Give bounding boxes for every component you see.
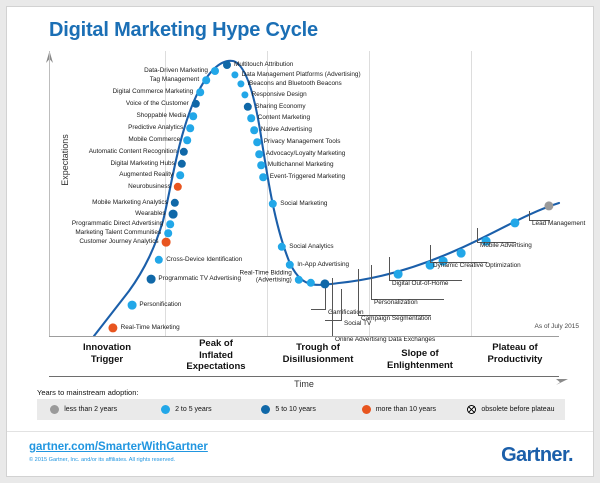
data-point[interactable] [223, 61, 231, 69]
as-of-date: As of July 2015 [535, 323, 579, 330]
legend-item[interactable]: less than 2 years [50, 405, 117, 414]
data-point-label: Augmented Reality [119, 171, 173, 179]
phase-plateau-of-productivity: Plateau of Productivity [471, 342, 559, 365]
data-point-label: Sharing Economy [255, 103, 305, 111]
data-point-label: Cross-Device Identification [166, 256, 242, 264]
data-point-label: Tag Management [150, 76, 199, 84]
data-point[interactable] [162, 238, 171, 247]
data-point-label: Multitouch Attribution [234, 61, 293, 69]
data-point-label: Predictive Analytics [128, 124, 183, 132]
data-point-label: Neurobusiness [128, 183, 171, 191]
legend-swatch-icon [362, 405, 371, 414]
hype-cycle-plot: Multitouch AttributionData-Driven Market… [49, 51, 559, 336]
data-point-label: Multichannel Marketing [268, 161, 334, 169]
data-point[interactable] [247, 114, 255, 122]
phase-innovation-trigger: Innovation Trigger [49, 342, 165, 365]
copyright-text: © 2015 Gartner, Inc. and/or its affiliat… [29, 457, 175, 463]
data-point-label: Digital Out-of-Home [392, 280, 448, 288]
data-point[interactable] [257, 161, 265, 169]
data-point-label: Real-Time Bidding(Advertising) [239, 270, 291, 285]
data-point-label: Social Analytics [289, 243, 333, 251]
data-point-label: Mobile Advertising [480, 242, 532, 250]
data-point[interactable] [183, 136, 191, 144]
data-point-label: Dynamic Creative Optimization [433, 262, 521, 270]
data-point[interactable] [259, 173, 267, 181]
leader-line [430, 245, 487, 263]
legend-swatch-icon [50, 405, 59, 414]
legend-swatch-icon [261, 405, 270, 414]
data-point[interactable] [147, 275, 156, 284]
data-point[interactable] [164, 229, 172, 237]
leader-line [311, 287, 326, 310]
data-point-label: Automatic Content Recognition [89, 148, 177, 156]
legend-item[interactable]: obsolete before plateau [467, 405, 554, 414]
legend-swatch-icon [161, 405, 170, 414]
data-point-label: Marketing Talent Communities [75, 229, 161, 237]
data-point-label: Real-Time Marketing [121, 324, 180, 332]
data-point-label: Campaign Segmentation [361, 315, 431, 323]
data-point-label: Programmatic TV Advertising [158, 275, 241, 283]
obsolete-before-plateau-icon [467, 405, 476, 414]
phase-trough-of-disillusionment: Trough of Disillusionment [267, 342, 369, 365]
data-point[interactable] [176, 171, 184, 179]
data-point-label: Responsive Design [252, 91, 307, 99]
legend-item-label: less than 2 years [64, 406, 117, 413]
data-point-label: Lead Management [532, 220, 585, 228]
data-point-label: Data Management Platforms (Advertising) [242, 71, 361, 79]
legend-item-label: 5 to 10 years [275, 406, 315, 413]
legend-item[interactable]: 5 to 10 years [261, 405, 315, 414]
data-point-label: Voice of the Customer [126, 100, 189, 108]
leader-line [477, 228, 516, 243]
data-point-label: Native Advertising [261, 126, 312, 134]
data-point-label: In-App Advertising [297, 261, 349, 269]
legend-item-label: more than 10 years [376, 406, 436, 413]
legend-item[interactable]: more than 10 years [362, 405, 436, 414]
data-point-label: Data-Driven Marketing [144, 67, 208, 75]
data-point[interactable] [253, 138, 261, 146]
footer-divider [7, 431, 593, 432]
phase-peak-of-inflated-expectations: Peak of Inflated Expectations [165, 338, 267, 373]
legend: less than 2 years2 to 5 years5 to 10 yea… [37, 399, 565, 420]
data-point-label: Digital Marketing Hubs [111, 160, 175, 168]
data-point-label: Shoppable Media [136, 112, 186, 120]
legend-item-label: obsolete before plateau [481, 406, 554, 413]
data-point-label: Mobile Commerce [128, 136, 180, 144]
data-point-label: Mobile Marketing Analytics [92, 199, 168, 207]
legend-item[interactable]: 2 to 5 years [161, 405, 212, 414]
page-title: Digital Marketing Hype Cycle [49, 19, 318, 42]
data-point-label: Customer Journey Analytics [79, 238, 158, 246]
data-point[interactable] [169, 210, 178, 219]
data-point-label: Personification [139, 301, 181, 309]
legend-title: Years to mainstream adoption: [37, 388, 138, 397]
data-point-label: Personalization [374, 299, 418, 307]
phase-slope-of-enlightenment: Slope of Enlightenment [369, 348, 471, 371]
data-point[interactable] [196, 88, 204, 96]
data-point-label: Content Marketing [258, 114, 310, 122]
data-point[interactable] [202, 76, 210, 84]
data-point[interactable] [166, 220, 174, 228]
data-point-label: Wearables [135, 210, 165, 218]
data-point-label: Privacy Management Tools [264, 138, 341, 146]
data-point[interactable] [250, 126, 258, 134]
data-point-label: Programmatic Direct Advertising [72, 220, 163, 228]
data-point-label: Advocacy/Loyalty Marketing [266, 150, 346, 158]
poster-page: Digital Marketing Hype Cycle Expectation… [6, 6, 594, 477]
data-point[interactable] [186, 124, 194, 132]
data-point-label: Social Marketing [280, 200, 327, 208]
phase-band: Innovation Trigger Peak of Inflated Expe… [49, 337, 559, 377]
data-point-label: iBeacons and Bluetooth Beacons [248, 80, 342, 88]
data-point[interactable] [128, 301, 137, 310]
data-point[interactable] [211, 67, 219, 75]
data-point[interactable] [189, 112, 197, 120]
legend-item-label: 2 to 5 years [175, 406, 212, 413]
gartner-logo: Gartner. [501, 444, 573, 467]
gartner-url-link[interactable]: gartner.com/SmarterWithGartner [29, 441, 208, 453]
data-point-label: Event-Triggered Marketing [270, 173, 345, 181]
data-point-label: Digital Commerce Marketing [113, 88, 194, 96]
data-point[interactable] [255, 150, 263, 158]
